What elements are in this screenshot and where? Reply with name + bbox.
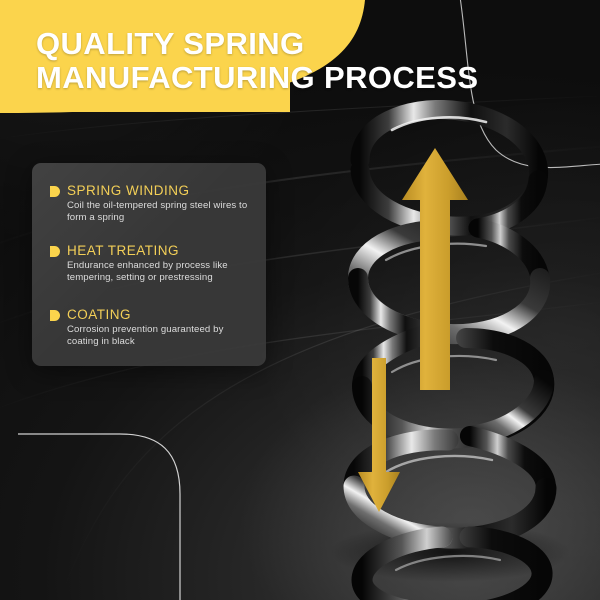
list-item: HEAT TREATING Endurance enhanced by proc… (50, 244, 254, 283)
coil-spring-illustration (300, 100, 600, 600)
step-header: COATING (50, 308, 254, 322)
half-disc-bullet-icon (50, 310, 60, 321)
process-steps-card: SPRING WINDING Coil the oil-tempered spr… (32, 163, 266, 366)
half-disc-bullet-icon (50, 246, 60, 257)
step-header: SPRING WINDING (50, 184, 254, 198)
step-description: Endurance enhanced by process like tempe… (67, 260, 254, 283)
infographic-canvas: QUALITY SPRING MANUFACTURING PROCESS (0, 0, 600, 600)
list-item: SPRING WINDING Coil the oil-tempered spr… (50, 184, 254, 223)
step-title: HEAT TREATING (67, 244, 179, 258)
title-line-1: QUALITY SPRING (36, 26, 305, 61)
page-title: QUALITY SPRING MANUFACTURING PROCESS (36, 27, 556, 95)
arrow-up-icon (402, 148, 468, 390)
step-description: Coil the oil-tempered spring steel wires… (67, 200, 254, 223)
title-line-2: MANUFACTURING PROCESS (36, 61, 556, 95)
half-disc-bullet-icon (50, 186, 60, 197)
step-title: SPRING WINDING (67, 184, 190, 198)
step-title: COATING (67, 308, 131, 322)
list-item: COATING Corrosion prevention guaranteed … (50, 308, 254, 347)
step-description: Corrosion prevention guaranteed by coati… (67, 324, 254, 347)
step-header: HEAT TREATING (50, 244, 254, 258)
